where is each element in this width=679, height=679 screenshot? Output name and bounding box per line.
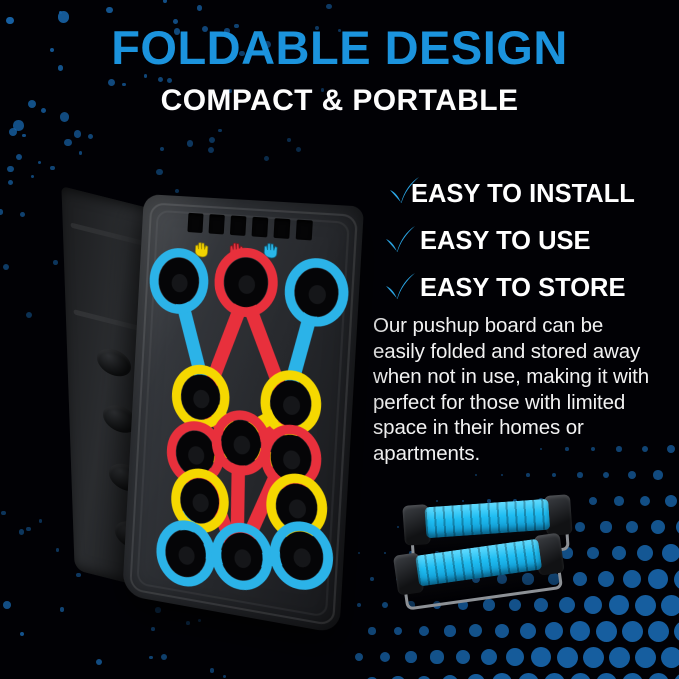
background-dot: [287, 138, 291, 142]
background-dot: [223, 675, 226, 678]
background-dot: [481, 649, 498, 666]
background-dot: [648, 569, 668, 589]
background-dot: [144, 74, 147, 77]
background-dot: [106, 7, 113, 14]
background-dot: [662, 544, 679, 562]
background-dot: [469, 624, 482, 637]
background-dot: [26, 312, 32, 318]
pushup-handles-image: [396, 500, 576, 626]
list-item-label: EASY TO USE: [420, 225, 591, 257]
background-dot: [622, 673, 643, 679]
background-dot: [38, 161, 41, 164]
background-dot: [405, 651, 416, 662]
background-dot: [20, 632, 24, 636]
background-dot: [653, 470, 662, 479]
background-dot: [614, 496, 623, 505]
background-dot: [674, 621, 679, 642]
background-dot: [326, 4, 332, 10]
background-dot: [160, 147, 164, 151]
background-dot: [587, 547, 600, 560]
background-dot: [56, 548, 59, 551]
list-item: EASY TO INSTALL: [383, 178, 673, 215]
background-dot: [167, 78, 172, 83]
background-dot: [74, 130, 82, 138]
background-dot: [492, 673, 513, 679]
page-title: FOLDABLE DESIGN: [0, 24, 679, 71]
background-dot: [577, 472, 583, 478]
background-dot: [661, 647, 679, 668]
background-dot: [467, 674, 486, 679]
background-dot: [612, 546, 626, 560]
background-dot: [622, 621, 643, 642]
background-dot: [296, 147, 301, 152]
background-dot: [557, 647, 578, 668]
background-dot: [58, 11, 70, 23]
background-dot: [39, 519, 42, 522]
background-dot: [444, 625, 455, 636]
list-item: EASY TO STORE: [383, 272, 673, 309]
background-dot: [596, 673, 617, 679]
check-icon: [383, 272, 417, 302]
background-dot: [209, 137, 215, 143]
background-dot: [151, 627, 155, 631]
background-dot: [648, 673, 669, 679]
background-dot: [544, 673, 565, 679]
background-dot: [651, 520, 665, 534]
background-dot: [158, 77, 163, 82]
background-dot: [31, 175, 34, 178]
background-dot: [59, 11, 62, 14]
background-dot: [456, 650, 471, 665]
background-dot: [596, 621, 617, 642]
background-dot: [635, 647, 656, 668]
background-dot: [161, 654, 167, 660]
background-dot: [96, 659, 102, 665]
background-dot: [552, 473, 557, 478]
background-dot: [53, 260, 58, 265]
background-dot: [8, 180, 13, 185]
background-dot: [384, 552, 387, 555]
background-dot: [264, 156, 269, 161]
background-dot: [16, 154, 22, 160]
product-feature-poster: FOLDABLE DESIGN COMPACT & PORTABLE EASY …: [0, 0, 679, 679]
background-dot: [583, 647, 604, 668]
background-dot: [570, 673, 591, 679]
background-dot: [9, 128, 17, 136]
background-dot: [575, 522, 585, 532]
background-dot: [208, 147, 215, 154]
background-dot: [430, 650, 443, 663]
background-dot: [674, 569, 679, 590]
background-dot: [149, 656, 153, 660]
background-dot: [475, 474, 477, 476]
background-dot: [156, 169, 163, 176]
background-dot: [600, 521, 611, 532]
list-item-label: EASY TO STORE: [420, 272, 625, 304]
background-dot: [13, 120, 23, 130]
background-dot: [584, 596, 602, 614]
background-dot: [26, 527, 30, 531]
background-dot: [187, 140, 194, 147]
background-dot: [635, 595, 656, 616]
background-dot: [163, 0, 167, 3]
background-dot: [640, 496, 651, 507]
background-dot: [210, 668, 214, 672]
background-dot: [1, 511, 6, 516]
background-dot: [589, 497, 597, 505]
background-dot: [20, 212, 25, 217]
background-dot: [623, 570, 641, 588]
background-dot: [64, 139, 71, 146]
background-dot: [380, 652, 390, 662]
background-dot: [626, 521, 639, 534]
background-dot: [79, 151, 82, 154]
background-dot: [628, 471, 636, 479]
background-dot: [218, 129, 222, 133]
background-dot: [0, 209, 3, 215]
background-dot: [665, 495, 678, 508]
background-dot: [531, 647, 552, 668]
background-dot: [108, 79, 115, 86]
feature-list: EASY TO INSTALL EASY TO USE EASY TO STOR…: [383, 178, 673, 319]
background-dot: [674, 673, 679, 679]
background-dot: [526, 473, 530, 477]
background-dot: [3, 264, 9, 270]
background-dot: [368, 627, 375, 634]
background-dot: [648, 621, 669, 642]
background-dot: [19, 529, 25, 535]
list-item-label: EASY TO INSTALL: [411, 178, 635, 210]
background-dot: [382, 602, 388, 608]
description-paragraph: Our pushup board can be easily folded an…: [373, 313, 651, 466]
check-icon: [383, 225, 417, 255]
background-dot: [197, 5, 203, 11]
background-dot: [3, 601, 11, 609]
background-dot: [637, 545, 653, 561]
background-dot: [394, 627, 402, 635]
background-dot: [598, 571, 614, 587]
background-dot: [518, 673, 539, 679]
pushup-board-image: [62, 186, 382, 626]
background-dot: [442, 675, 459, 679]
background-dot: [22, 134, 25, 137]
background-dot: [50, 166, 55, 171]
background-dot: [506, 648, 525, 667]
background-dot: [355, 653, 364, 662]
background-dot: [417, 676, 432, 679]
list-item: EASY TO USE: [383, 225, 673, 262]
background-dot: [603, 472, 610, 479]
background-dot: [609, 595, 630, 616]
board-front-panel: [122, 194, 364, 634]
background-dot: [609, 647, 630, 668]
background-dot: [7, 166, 14, 173]
background-dot: [661, 595, 679, 616]
background-dot: [419, 626, 429, 636]
page-subtitle: COMPACT & PORTABLE: [0, 86, 679, 116]
background-dot: [667, 445, 675, 453]
board-hole-pattern: [122, 194, 364, 634]
background-dot: [501, 474, 504, 477]
background-dot: [88, 134, 93, 139]
